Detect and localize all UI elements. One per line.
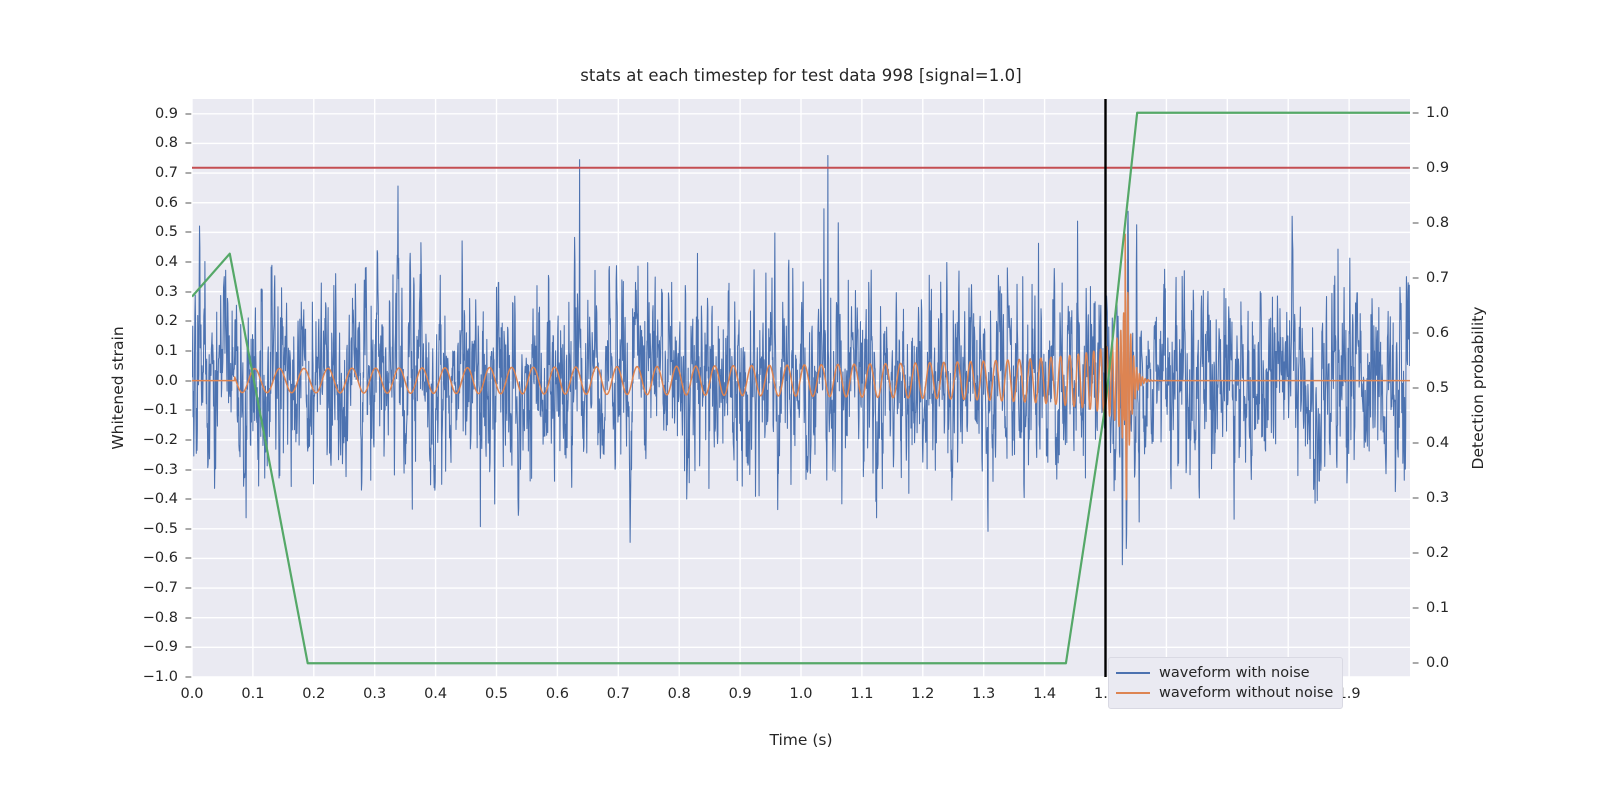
y-tick-left: −0.2– <box>143 432 192 448</box>
x-tick: 1.4 <box>1033 686 1056 702</box>
x-tick: 0.7 <box>607 686 630 702</box>
y-tick-right: –1.0 <box>1412 105 1449 121</box>
y-tick-left: −1.0– <box>143 669 192 685</box>
chart-title: stats at each timestep for test data 998… <box>192 66 1410 85</box>
y-tick-right: –0.1 <box>1412 600 1449 616</box>
y-tick-left: −0.3– <box>143 462 192 478</box>
y-tick-right: –0.7 <box>1412 270 1449 286</box>
x-tick: 1.2 <box>911 686 934 702</box>
data-series-layer <box>192 99 1410 677</box>
legend-label: waveform with noise <box>1159 665 1310 681</box>
x-tick: 0.1 <box>241 686 264 702</box>
figure: stats at each timestep for test data 998… <box>0 0 1600 800</box>
y-tick-right: –0.8 <box>1412 215 1449 231</box>
y-tick-right: –0.2 <box>1412 545 1449 561</box>
y-tick-right: –0.9 <box>1412 160 1449 176</box>
x-tick: 1.3 <box>972 686 995 702</box>
x-tick: 0.3 <box>363 686 386 702</box>
x-tick: 0.4 <box>424 686 447 702</box>
x-tick: 0.2 <box>302 686 325 702</box>
y-tick-left: −0.6– <box>143 550 192 566</box>
y-tick-right: –0.0 <box>1412 655 1449 671</box>
legend-swatch <box>1116 672 1150 674</box>
x-tick: 0.8 <box>668 686 691 702</box>
y-tick-left: 0.2– <box>155 313 192 329</box>
legend-item[interactable]: waveform without noise <box>1116 683 1333 703</box>
y-tick-left: −0.7– <box>143 580 192 596</box>
legend-swatch <box>1116 692 1150 694</box>
y-tick-left: 0.8– <box>155 135 192 151</box>
y-tick-left: −0.8– <box>143 610 192 626</box>
legend-label: waveform without noise <box>1159 685 1333 701</box>
x-tick: 0.5 <box>485 686 508 702</box>
plot-area <box>192 99 1410 677</box>
x-tick: 1.0 <box>789 686 812 702</box>
x-tick: 0.0 <box>180 686 203 702</box>
y-axis-label-left: Whitened strain <box>109 326 127 449</box>
y-tick-left: 0.6– <box>155 195 192 211</box>
y-tick-right: –0.5 <box>1412 380 1449 396</box>
y-tick-left: 0.9– <box>155 106 192 122</box>
y-tick-left: 0.0– <box>155 373 192 389</box>
x-tick: 0.9 <box>729 686 752 702</box>
y-tick-left: 0.3– <box>155 284 192 300</box>
y-tick-left: −0.9– <box>143 639 192 655</box>
y-tick-right: –0.3 <box>1412 490 1449 506</box>
legend-item[interactable]: waveform with noise <box>1116 663 1333 683</box>
x-axis-label: Time (s) <box>769 731 832 749</box>
y-tick-left: −0.1– <box>143 402 192 418</box>
y-tick-left: 0.4– <box>155 254 192 270</box>
y-tick-right: –0.6 <box>1412 325 1449 341</box>
x-tick: 1.1 <box>850 686 873 702</box>
y-tick-right: –0.4 <box>1412 435 1449 451</box>
x-tick: 0.6 <box>546 686 569 702</box>
y-tick-left: 0.7– <box>155 165 192 181</box>
y-tick-left: 0.5– <box>155 224 192 240</box>
y-tick-left: 0.1– <box>155 343 192 359</box>
series-waveform-with-noise <box>192 156 1410 565</box>
y-axis-label-right: Detection probability <box>1469 307 1487 470</box>
y-tick-left: −0.4– <box>143 491 192 507</box>
y-tick-left: −0.5– <box>143 521 192 537</box>
legend: waveform with noisewaveform without nois… <box>1108 657 1343 709</box>
